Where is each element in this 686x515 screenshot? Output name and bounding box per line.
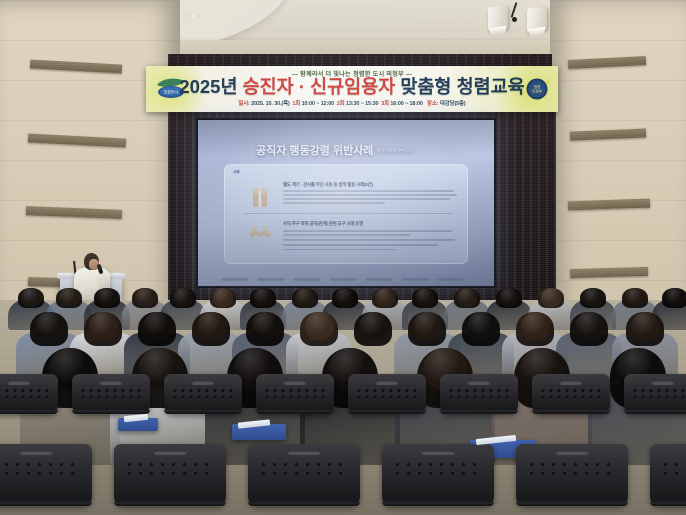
audience-member-head xyxy=(359,312,388,340)
chair-grab-handle xyxy=(421,450,455,455)
chair-grab-handle xyxy=(19,450,53,455)
wall-accent-strip xyxy=(570,267,648,278)
chair-perforation-pattern xyxy=(526,460,618,476)
chair-perforation-pattern xyxy=(539,387,603,398)
audience-member-head xyxy=(413,312,442,340)
chair-bottom-edge xyxy=(72,410,150,414)
audience-member-head xyxy=(89,312,118,340)
audience-chair xyxy=(164,374,242,414)
banner-session3-time: 16:00 ~ 18:00 xyxy=(390,101,422,107)
audience-member-head xyxy=(59,288,79,307)
chair-bottom-edge xyxy=(256,410,334,414)
chair-grab-handle xyxy=(555,450,589,455)
audience-member-head xyxy=(135,288,155,307)
audience-member-head xyxy=(375,288,395,307)
wall-accent-strip xyxy=(30,59,122,73)
audience-member-head xyxy=(583,288,603,307)
recessed-downlight-3 xyxy=(188,14,199,18)
projection-screen-frame: 공직자 행동강령 위반사례부당이득의 수수금지 사례 별도 계기 · 관사를 무… xyxy=(196,118,496,288)
audience-chair xyxy=(440,374,518,414)
banner-place-value: 대강당(5층) xyxy=(440,101,466,107)
chair-perforation-pattern xyxy=(0,387,51,398)
wall-accent-strip xyxy=(570,128,646,140)
audience-chair xyxy=(72,374,150,414)
chair-bottom-edge xyxy=(164,410,242,414)
audience-member-head xyxy=(143,312,172,340)
audience-member-head xyxy=(251,312,280,340)
chair-perforation-pattern xyxy=(79,387,143,398)
audience-member-head xyxy=(665,288,685,307)
wall-accent-strip xyxy=(568,199,650,211)
audience-chair xyxy=(114,444,226,506)
audience-member-head xyxy=(631,312,660,340)
audience-chair xyxy=(256,374,334,414)
chair-grab-handle xyxy=(559,380,582,385)
chair-perforation-pattern xyxy=(124,460,216,476)
banner-session2-label: 2회 xyxy=(337,101,345,107)
audience-chair xyxy=(516,444,628,506)
audience-member-head xyxy=(625,288,645,307)
chair-bottom-edge xyxy=(532,410,610,414)
chair-perforation-pattern xyxy=(0,460,82,476)
event-banner: 의정부시 청렴 의정부 — 함께라서 더 빛나는 청렴한 도시 의정부 — 20… xyxy=(146,66,558,112)
chair-perforation-pattern xyxy=(660,460,686,476)
chair-perforation-pattern xyxy=(355,387,419,398)
chair-perforation-pattern xyxy=(263,387,327,398)
chair-bottom-edge xyxy=(516,502,628,506)
chair-grab-handle xyxy=(153,450,187,455)
chair-perforation-pattern xyxy=(447,387,511,398)
audience-member-head xyxy=(197,312,226,340)
chair-bottom-edge xyxy=(114,502,226,506)
audience-chair xyxy=(624,374,686,414)
audience-member-head xyxy=(335,288,355,307)
audience-member-head xyxy=(253,288,273,307)
audience-chair xyxy=(382,444,494,506)
projection-screen: 공직자 행동강령 위반사례부당이득의 수수금지 사례 별도 계기 · 관사를 무… xyxy=(198,120,494,286)
chair-grab-handle xyxy=(651,380,674,385)
audience-member-head xyxy=(305,312,334,340)
audience-chair xyxy=(532,374,610,414)
banner-place-label: 장소 xyxy=(427,101,437,107)
audience-member-head xyxy=(467,312,496,340)
chair-grab-handle xyxy=(99,380,122,385)
wall-accent-strip xyxy=(28,133,126,147)
banner-title-part-3: 맞춤형 청렴교육 xyxy=(395,76,524,97)
chair-perforation-pattern xyxy=(631,387,686,398)
audience-chair xyxy=(348,374,426,414)
chair-bottom-edge xyxy=(624,410,686,414)
banner-title-part-2: 승진자 · 신규임용자 xyxy=(243,76,396,97)
chair-grab-handle xyxy=(283,380,306,385)
chair-bottom-edge xyxy=(382,502,494,506)
chair-bottom-edge xyxy=(0,410,58,414)
banner-session1-time: 10:00 ~ 12:00 xyxy=(302,101,334,107)
chair-grab-handle xyxy=(287,450,321,455)
audience-member-head xyxy=(97,288,117,307)
audience-member-head xyxy=(521,312,550,340)
banner-session2-time: 13:30 ~ 15:30 xyxy=(346,101,378,107)
audience-member-head xyxy=(575,312,604,340)
chair-bottom-edge xyxy=(440,410,518,414)
banner-date-label: 일시 xyxy=(238,101,248,107)
chair-bottom-edge xyxy=(348,410,426,414)
banner-title: 2025년 승진자 · 신규임용자 맞춤형 청렴교육 xyxy=(146,77,558,97)
chair-bottom-edge xyxy=(650,502,686,506)
audience-member-head xyxy=(415,288,435,307)
audience-chair xyxy=(0,374,58,414)
chair-bottom-edge xyxy=(0,502,92,506)
chair-grab-handle xyxy=(375,380,398,385)
audience-member-head xyxy=(457,288,477,307)
audience-chair xyxy=(248,444,360,506)
banner-subline: 일시: 2025. 10. 30.(목) 1회 10:00 ~ 12:00 2회… xyxy=(146,99,558,107)
banner-session3-label: 3회 xyxy=(381,101,389,107)
banner-session1-label: 1회 xyxy=(292,101,300,107)
audience-chair xyxy=(0,444,92,506)
chair-perforation-pattern xyxy=(258,460,350,476)
wall-accent-strip xyxy=(568,56,646,69)
ceiling-spotlight-2 xyxy=(525,7,551,41)
audience-member-head xyxy=(21,288,41,307)
chair-grab-handle xyxy=(191,380,214,385)
audience-member-head xyxy=(173,288,193,307)
chair-grab-handle xyxy=(7,380,30,385)
chair-grab-handle xyxy=(467,380,490,385)
lecture-hall-screenshot: 의정부시 청렴 의정부 — 함께라서 더 빛나는 청렴한 도시 의정부 — 20… xyxy=(0,0,686,515)
wall-accent-strip xyxy=(26,206,122,219)
audience-member-head xyxy=(499,288,519,307)
audience-member-head xyxy=(35,312,64,340)
ceiling-spotlight-1 xyxy=(486,6,512,40)
audience-member-head xyxy=(541,288,561,307)
audience-member-head xyxy=(295,288,315,307)
audience-member-head xyxy=(213,288,233,307)
screen-light-vignette xyxy=(198,120,494,286)
chair-perforation-pattern xyxy=(171,387,235,398)
banner-date-value: 2025. 10. 30.(목) xyxy=(251,101,289,107)
chair-bottom-edge xyxy=(248,502,360,506)
audience-chair xyxy=(650,444,686,506)
chair-perforation-pattern xyxy=(392,460,484,476)
banner-title-part-1: 2025년 xyxy=(179,76,242,97)
